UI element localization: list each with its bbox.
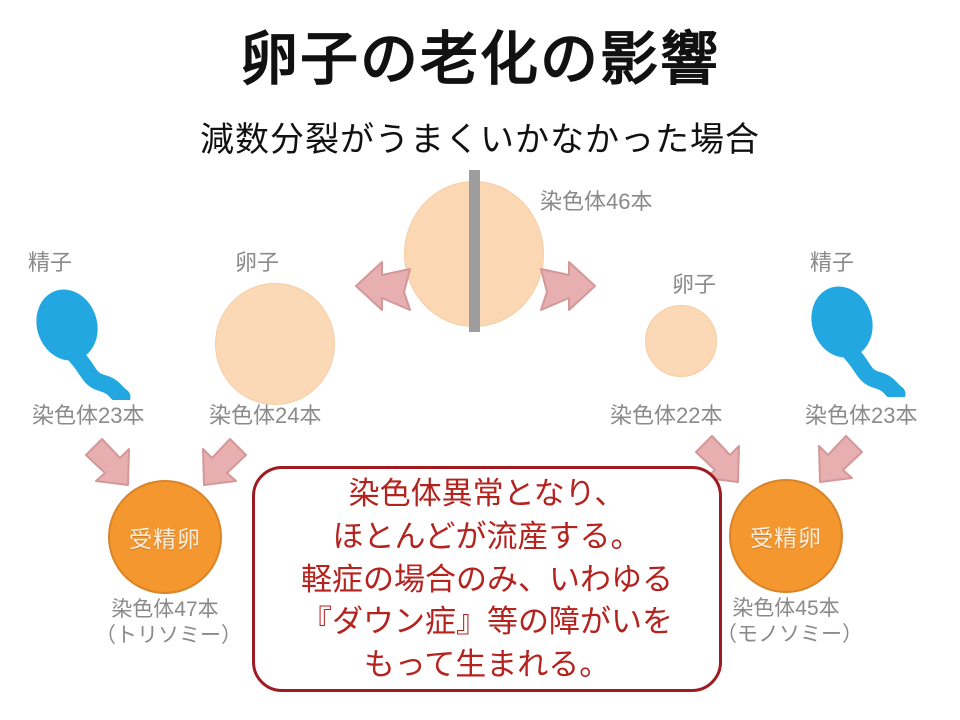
right-zygote-label: 受精卵	[750, 519, 822, 553]
callout-line-4: 『ダウン症』等の障がいを	[301, 601, 673, 644]
egg-cell-icon-left	[215, 283, 335, 405]
slide-canvas: 卵子の老化の影響 減数分裂がうまくいかなかった場合 染色体46本 精子 染色体2…	[0, 0, 960, 720]
left-egg-chromosome-label: 染色体24本	[209, 403, 321, 428]
left-zygote-label: 受精卵	[129, 520, 201, 554]
left-zygote-chromosome-label: 染色体47本	[95, 598, 235, 622]
zygote-icon-left: 受精卵	[108, 480, 222, 594]
right-zygote-condition-label: （モノソミー）	[716, 623, 856, 647]
arrow-down-left-icon-left-egg	[192, 435, 250, 493]
arrow-left-icon	[352, 258, 414, 314]
callout-box: 染色体異常となり、 ほとんどが流産する。 軽症の場合のみ、いわゆる 『ダウン症』…	[252, 466, 722, 692]
callout-line-3: 軽症の場合のみ、いわゆる	[301, 559, 673, 602]
egg-cell-icon-right	[645, 305, 717, 377]
right-sperm-label: 精子	[810, 250, 854, 275]
arrow-down-right-icon-left-sperm	[82, 435, 140, 493]
right-egg-label: 卵子	[672, 272, 716, 297]
left-zygote-condition-label: （トリソミー）	[95, 624, 235, 648]
center-cell-chromosome-label: 染色体46本	[540, 189, 652, 214]
sperm-icon-right	[805, 282, 915, 397]
left-sperm-chromosome-label: 染色体23本	[32, 403, 144, 428]
callout-line-1: 染色体異常となり、	[349, 473, 626, 516]
zygote-icon-right: 受精卵	[729, 479, 843, 593]
arrow-down-left-icon-right-sperm	[808, 432, 866, 490]
callout-line-2: ほとんどが流産する。	[332, 516, 641, 559]
callout-line-5: もって生まれる。	[364, 644, 610, 687]
dashed-divider-icon	[469, 170, 480, 332]
sperm-icon	[30, 285, 140, 400]
page-subtitle: 減数分裂がうまくいかなかった場合	[0, 122, 960, 159]
page-title: 卵子の老化の影響	[0, 30, 960, 91]
right-egg-chromosome-label: 染色体22本	[610, 403, 722, 428]
right-zygote-chromosome-label: 染色体45本	[716, 597, 856, 621]
left-egg-label: 卵子	[235, 250, 279, 275]
arrow-right-icon	[537, 258, 599, 314]
left-sperm-label: 精子	[28, 250, 72, 275]
right-sperm-chromosome-label: 染色体23本	[805, 403, 917, 428]
